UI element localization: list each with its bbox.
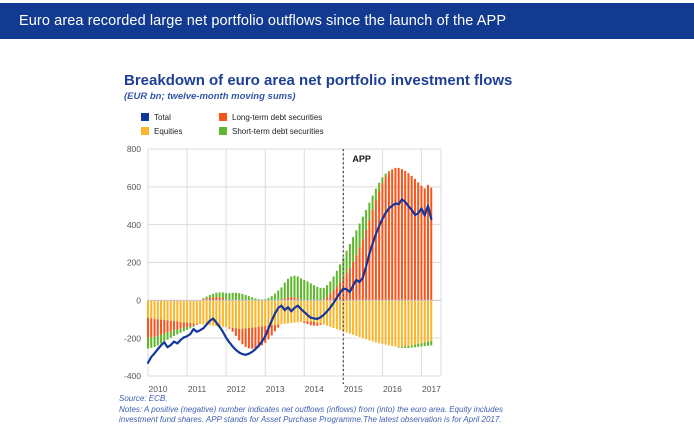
slide-root: Euro area recorded large net portfolio o… (0, 0, 694, 436)
grid-lines (148, 149, 441, 376)
chart-card: Breakdown of euro area net portfolio inv… (0, 46, 694, 436)
x-tick-label: 2017 (422, 384, 441, 394)
x-tick-label: 2012 (227, 384, 246, 394)
y-tick-label: 400 (127, 220, 141, 230)
y-tick-label: -200 (124, 333, 141, 343)
page-title: Euro area recorded large net portfolio o… (0, 13, 506, 29)
footnote-source: Source: ECB. (119, 394, 619, 405)
y-axis-tick-labels: -400-2000200400600800 (124, 144, 141, 381)
x-tick-label: 2013 (266, 384, 285, 394)
x-tick-label: 2011 (188, 384, 207, 394)
app-label: APP (352, 154, 371, 164)
y-tick-label: 600 (127, 182, 141, 192)
x-tick-label: 2014 (305, 384, 324, 394)
x-tick-label: 2010 (149, 384, 168, 394)
y-tick-label: -400 (124, 371, 141, 381)
footnote-notes-line-1: Notes: A positive (negative) number indi… (119, 405, 619, 416)
footnotes-block: Source: ECB. Notes: A positive (negative… (119, 394, 619, 426)
y-tick-label: 200 (127, 258, 141, 268)
y-tick-label: 0 (136, 296, 141, 306)
x-axis-tick-labels: 20102011201220132014201520162017 (149, 384, 442, 394)
x-tick-label: 2016 (383, 384, 402, 394)
chart-svg: APP -400-2000200400600800 20102011201220… (0, 46, 694, 436)
x-tick-label: 2015 (344, 384, 363, 394)
chart-plot-area: APP -400-2000200400600800 20102011201220… (0, 46, 694, 436)
header-banner: Euro area recorded large net portfolio o… (0, 3, 694, 39)
y-tick-label: 800 (127, 144, 141, 154)
footnote-notes-line-2: investment fund shares. APP stands for A… (119, 415, 619, 426)
